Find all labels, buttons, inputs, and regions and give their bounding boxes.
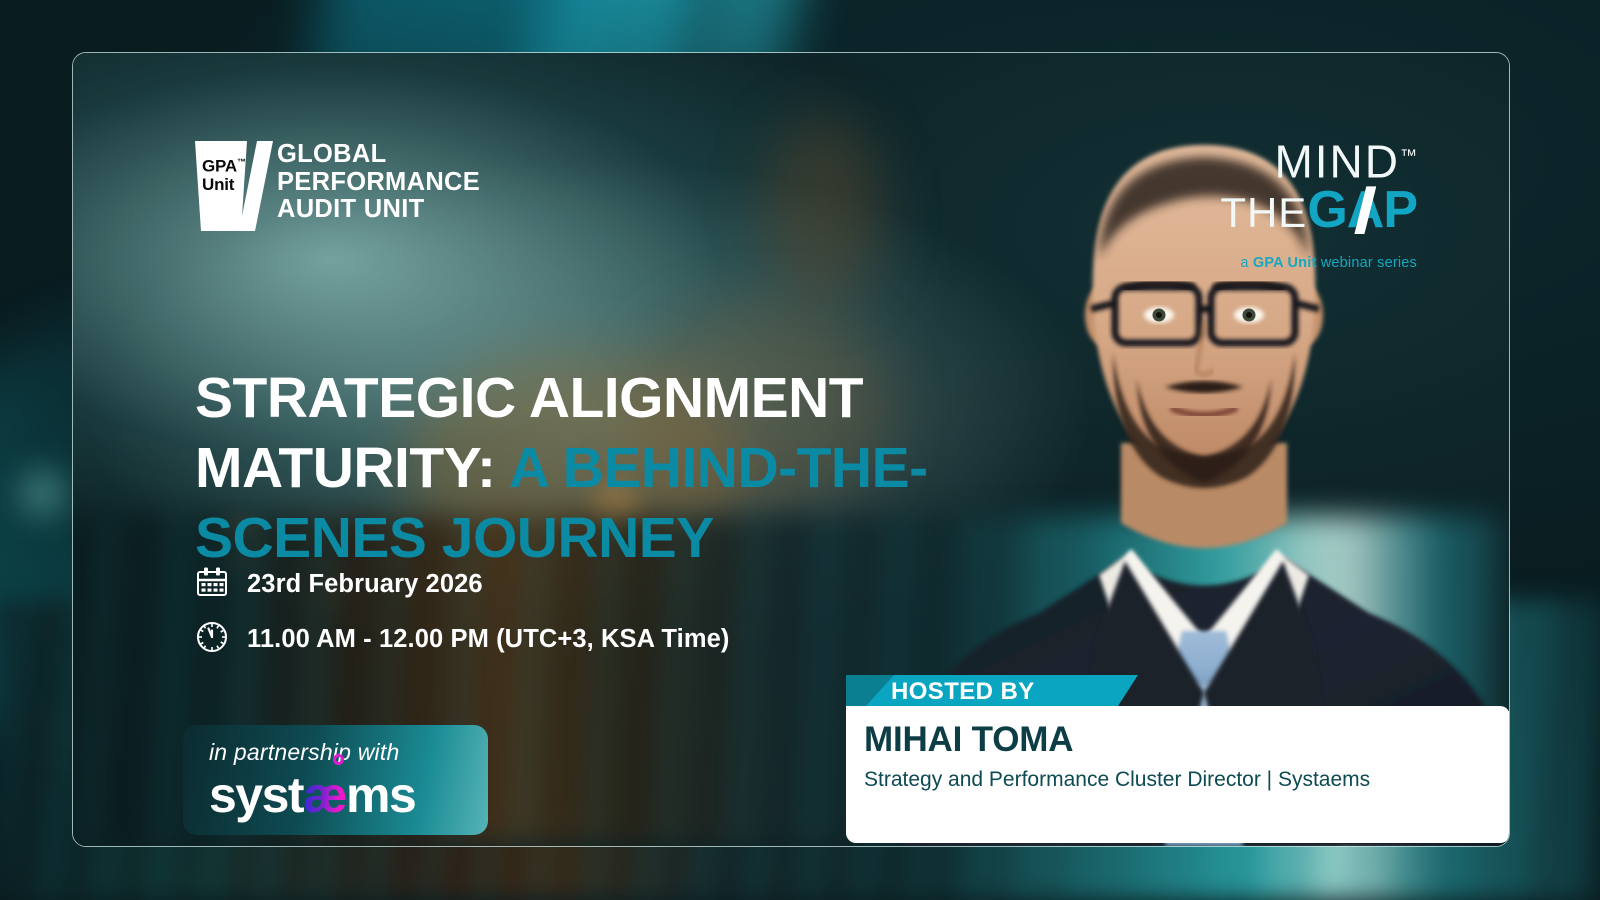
partnership-label: in partnership with	[209, 739, 488, 766]
systaems-part1: syst	[209, 768, 303, 822]
mtg-tagline-pre: a	[1240, 255, 1253, 271]
event-date-row: 23rd February 2026	[195, 565, 729, 604]
promo-card: GPA™ Unit GLOBAL PERFORMANCE AUDIT UNIT …	[72, 52, 1510, 847]
background-bokeh	[20, 470, 66, 516]
event-date: 23rd February 2026	[247, 570, 483, 599]
clock-icon	[195, 620, 229, 659]
mtg-tagline-post: webinar series	[1316, 255, 1417, 271]
gpa-unit-slash-mark-icon: GPA™ Unit	[195, 141, 261, 231]
gpa-mark-line1: GPA	[202, 157, 237, 176]
gpa-unit-logo: GPA™ Unit GLOBAL PERFORMANCE AUDIT UNIT	[195, 141, 480, 231]
systaems-dot-icon	[333, 754, 344, 765]
webinar-promo-banner: GPA™ Unit GLOBAL PERFORMANCE AUDIT UNIT …	[0, 0, 1600, 900]
systaems-part2: ms	[346, 768, 415, 822]
mtg-tm: ™	[1400, 146, 1417, 165]
gpa-unit-wordmark: GLOBAL PERFORMANCE AUDIT UNIT	[277, 141, 480, 224]
gpa-mark-line2: Unit	[202, 175, 234, 194]
event-details: 23rd February 2026	[195, 565, 729, 675]
mind-the-gap-logo: MIND™ THEGAP a GPA Unit webinar series	[1157, 133, 1417, 271]
systaems-logo: systæms	[209, 768, 488, 822]
speaker-name: MIHAI TOMA	[864, 720, 1510, 760]
mtg-gap-text: GAP	[1307, 184, 1417, 236]
mtg-mind-text: MIND	[1274, 135, 1400, 187]
speaker-role: Strategy and Performance Cluster Directo…	[864, 767, 1510, 793]
systaems-ligature: æ	[303, 768, 346, 822]
mtg-tagline-bold: GPA Unit	[1253, 255, 1317, 271]
mtg-the-text: THE	[1220, 189, 1307, 236]
hosted-by-label: HOSTED BY	[891, 678, 1035, 706]
event-time: 11.00 AM - 12.00 PM (UTC+3, KSA Time)	[247, 625, 729, 654]
card-warm-glow	[763, 113, 883, 303]
mtg-tagline: a GPA Unit webinar series	[1157, 255, 1417, 271]
page-title: STRATEGIC ALIGNMENT MATURITY: A BEHIND-T…	[195, 363, 955, 573]
gpa-mark-tm: ™	[237, 157, 246, 167]
event-time-row: 11.00 AM - 12.00 PM (UTC+3, KSA Time)	[195, 620, 729, 659]
speaker-card: MIHAI TOMA Strategy and Performance Clus…	[846, 706, 1510, 843]
calendar-icon	[195, 565, 229, 604]
hosted-by-banner: HOSTED BY	[846, 675, 1138, 706]
partnership-box: in partnership with systæms	[183, 725, 488, 835]
